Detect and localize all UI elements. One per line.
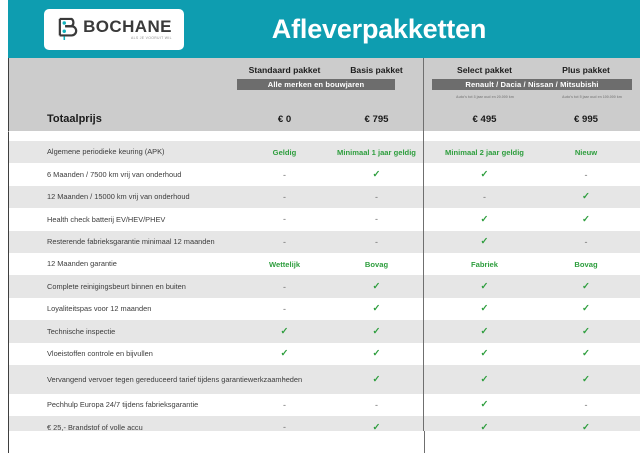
logo-tagline: ALS JE VOORUIT WIL — [131, 37, 172, 40]
check-icon: ✓ — [373, 304, 381, 314]
afleverpakketten-page: BOCHANE ALS JE VOORUIT WIL Afleverpakket… — [0, 0, 640, 453]
row-label: Pechhulp Europa 24/7 tijdens fabrieksgar… — [47, 394, 198, 416]
page-header: BOCHANE ALS JE VOORUIT WIL Afleverpakket… — [8, 0, 640, 58]
cell-value: Fabriek — [432, 253, 537, 275]
cell-dash: - — [329, 394, 424, 416]
row-label: Health check batterij EV/HEV/PHEV — [47, 208, 165, 230]
cell-check-icon: ✓ — [432, 298, 537, 320]
total-price-row: Totaalprijs € 0 € 795 € 495 € 995 — [8, 110, 640, 132]
table-row: Vloeistoffen controle en bijvullen✓✓✓✓ — [8, 343, 640, 365]
bochane-b-mark-icon — [56, 16, 78, 42]
cell-value: Bovag — [536, 253, 636, 275]
table-row: 6 Maanden / 7500 km vrij van onderhoud-✓… — [8, 163, 640, 185]
cell-dash: - — [232, 163, 337, 185]
cell-check-icon: ✓ — [432, 320, 537, 342]
cell-dash: - — [232, 208, 337, 230]
check-icon: ✓ — [281, 327, 289, 337]
table-row: 12 Maanden / 15000 km vrij van onderhoud… — [8, 186, 640, 208]
table-row: Health check batterij EV/HEV/PHEV--✓✓ — [8, 208, 640, 230]
cell-dash: - — [432, 186, 537, 208]
cell-value: Minimaal 1 jaar geldig — [329, 141, 424, 163]
column-header-basis: Basis pakket — [329, 65, 424, 75]
table-row: Loyaliteitspas voor 12 maanden-✓✓✓ — [8, 298, 640, 320]
cell-check-icon: ✓ — [536, 186, 636, 208]
check-icon: ✓ — [582, 304, 590, 314]
column-header-select: Select pakket — [432, 65, 537, 75]
check-icon: ✓ — [481, 400, 489, 410]
cell-check-icon: ✓ — [432, 343, 537, 365]
table-row: Technische inspectie✓✓✓✓ — [8, 320, 640, 342]
cell-dash: - — [232, 275, 337, 297]
subnote-plus: Auto's tot 5 jaar oud en 100.000 km — [536, 93, 640, 101]
table-row: Vervangend vervoer tegen gereduceerd tar… — [8, 365, 640, 394]
cell-value: Minimaal 2 jaar geldig — [432, 141, 537, 163]
bochane-logo[interactable]: BOCHANE ALS JE VOORUIT WIL — [44, 9, 184, 50]
cell-check-icon: ✓ — [232, 320, 337, 342]
cell-dash: - — [536, 394, 636, 416]
cell-check-icon: ✓ — [329, 298, 424, 320]
total-price-standaard: € 0 — [232, 114, 337, 125]
column-header-plus: Plus pakket — [536, 65, 636, 75]
cell-check-icon: ✓ — [329, 343, 424, 365]
table-spacer — [8, 132, 640, 141]
column-group-divider — [423, 58, 424, 453]
check-icon: ✓ — [582, 215, 590, 225]
cell-check-icon: ✓ — [432, 231, 537, 253]
table-row: Pechhulp Europa 24/7 tijdens fabrieksgar… — [8, 394, 640, 416]
cell-dash: - — [536, 231, 636, 253]
check-icon: ✓ — [481, 304, 489, 314]
cell-check-icon: ✓ — [432, 163, 537, 185]
table-body: Algemene periodieke keuring (APK)GeldigM… — [8, 141, 640, 439]
cell-check-icon: ✓ — [432, 208, 537, 230]
total-price-label: Totaalprijs — [47, 113, 102, 125]
cell-check-icon: ✓ — [329, 320, 424, 342]
footer-divider — [424, 431, 425, 453]
check-icon: ✓ — [373, 349, 381, 359]
check-icon: ✓ — [582, 192, 590, 202]
check-icon: ✓ — [481, 215, 489, 225]
cell-dash: - — [329, 186, 424, 208]
check-icon: ✓ — [481, 237, 489, 247]
table-row: 12 Maanden garantieWettelijkBovagFabriek… — [8, 253, 640, 275]
total-price-plus: € 995 — [536, 114, 636, 125]
page-title-text: Afleverpakketten — [162, 14, 486, 45]
cell-value: Wettelijk — [232, 253, 337, 275]
cell-check-icon: ✓ — [432, 365, 537, 394]
check-icon: ✓ — [481, 282, 489, 292]
group-pill-renault-groep: Renault / Dacia / Nissan / Mitsubishi — [432, 79, 632, 90]
check-icon: ✓ — [281, 349, 289, 359]
cell-check-icon: ✓ — [432, 394, 537, 416]
cell-dash: - — [232, 231, 337, 253]
check-icon: ✓ — [373, 375, 381, 385]
cell-check-icon: ✓ — [536, 275, 636, 297]
total-price-basis: € 795 — [329, 114, 424, 125]
table-footer-strip — [8, 431, 640, 453]
column-header-standaard: Standaard pakket — [232, 65, 337, 75]
row-label: Algemene periodieke keuring (APK) — [47, 141, 165, 163]
check-icon: ✓ — [582, 349, 590, 359]
check-icon: ✓ — [481, 375, 489, 385]
check-icon: ✓ — [582, 327, 590, 337]
cell-check-icon: ✓ — [329, 365, 424, 394]
cell-dash: - — [329, 231, 424, 253]
check-icon: ✓ — [373, 282, 381, 292]
row-label: 6 Maanden / 7500 km vrij van onderhoud — [47, 163, 181, 185]
row-label: Loyaliteitspas voor 12 maanden — [47, 298, 151, 320]
cell-check-icon: ✓ — [329, 275, 424, 297]
cell-check-icon: ✓ — [536, 298, 636, 320]
cell-value: Nieuw — [536, 141, 636, 163]
cell-check-icon: ✓ — [232, 343, 337, 365]
cell-dash: - — [232, 186, 337, 208]
cell-check-icon: ✓ — [536, 343, 636, 365]
row-label: 12 Maanden garantie — [47, 253, 117, 275]
cell-value: Geldig — [232, 141, 337, 163]
table-row: Algemene periodieke keuring (APK)GeldigM… — [8, 141, 640, 163]
row-label: 12 Maanden / 15000 km vrij van onderhoud — [47, 186, 190, 208]
table-column-headers: Standaard pakket Basis pakket Select pak… — [8, 58, 640, 110]
check-icon: ✓ — [481, 349, 489, 359]
cell-value: Bovag — [329, 253, 424, 275]
row-label: Complete reinigingsbeurt binnen en buite… — [47, 275, 186, 297]
cell-dash: - — [329, 208, 424, 230]
subnote-select: Auto's tot 3 jaar oud en 20.000 km — [429, 93, 541, 101]
table-row: Resterende fabrieksgarantie minimaal 12 … — [8, 231, 640, 253]
check-icon: ✓ — [481, 327, 489, 337]
cell-check-icon: ✓ — [329, 163, 424, 185]
cell-check-icon: ✓ — [536, 208, 636, 230]
row-label: Technische inspectie — [47, 320, 115, 342]
check-icon: ✓ — [481, 170, 489, 180]
total-price-select: € 495 — [432, 114, 537, 125]
cell-dash: - — [232, 365, 337, 394]
cell-dash: - — [232, 298, 337, 320]
check-icon: ✓ — [373, 170, 381, 180]
group-pill-alle-merken: Alle merken en bouwjaren — [237, 79, 395, 90]
cell-dash: - — [232, 394, 337, 416]
cell-check-icon: ✓ — [536, 320, 636, 342]
cell-check-icon: ✓ — [536, 365, 636, 394]
cell-dash: - — [536, 163, 636, 185]
row-label: Vloeistoffen controle en bijvullen — [47, 343, 153, 365]
check-icon: ✓ — [373, 327, 381, 337]
row-label: Resterende fabrieksgarantie minimaal 12 … — [47, 231, 215, 253]
cell-check-icon: ✓ — [432, 275, 537, 297]
check-icon: ✓ — [582, 375, 590, 385]
packages-table: Standaard pakket Basis pakket Select pak… — [8, 58, 640, 453]
table-row: Complete reinigingsbeurt binnen en buite… — [8, 275, 640, 297]
logo-wordmark: BOCHANE — [83, 18, 172, 35]
check-icon: ✓ — [582, 282, 590, 292]
